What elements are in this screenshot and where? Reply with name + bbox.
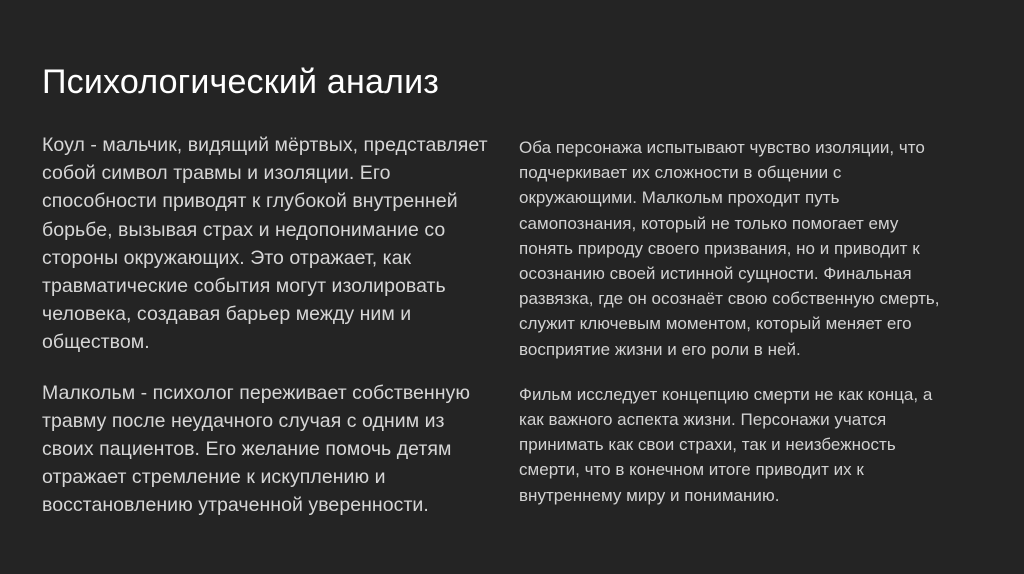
slide-canvas: Психологический анализ Коул - мальчик, в…	[0, 0, 1024, 574]
right-paragraph-1: Оба персонажа испытывают чувство изоляци…	[519, 135, 951, 362]
left-paragraph-1: Коул - мальчик, видящий мёртвых, предста…	[42, 131, 494, 357]
left-text-column: Коул - мальчик, видящий мёртвых, предста…	[42, 131, 494, 520]
left-paragraph-2: Малкольм - психолог переживает собственн…	[42, 379, 494, 520]
page-title: Психологический анализ	[42, 61, 439, 103]
right-paragraph-2: Фильм исследует концепцию смерти не как …	[519, 382, 951, 508]
right-text-column: Оба персонажа испытывают чувство изоляци…	[519, 135, 951, 508]
